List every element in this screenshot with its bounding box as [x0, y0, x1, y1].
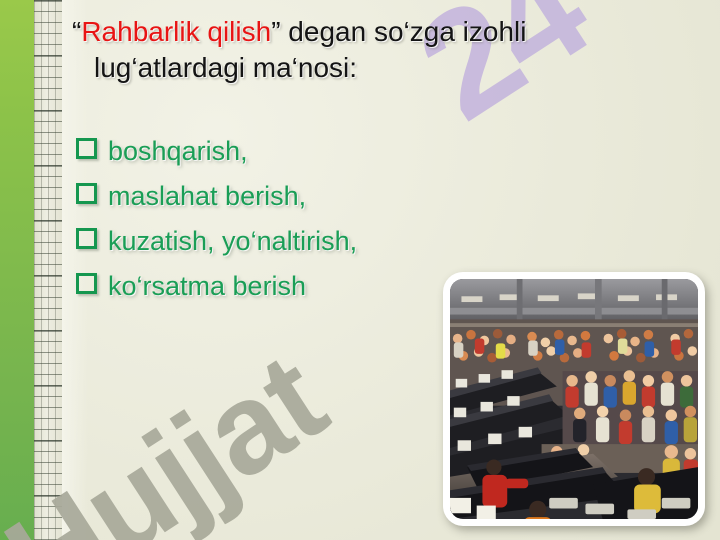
left-green-band	[0, 0, 34, 540]
list-item: maslahat berish,	[76, 183, 546, 210]
title-line2: lug‘atlardagi ma‘nosi:	[72, 50, 652, 86]
square-bullet-icon	[76, 273, 97, 294]
square-bullet-icon	[76, 228, 97, 249]
title-line1-rest: degan so‘zga izohli	[281, 16, 527, 47]
list-item: boshqarish,	[76, 138, 546, 165]
title-quote-open: “	[72, 16, 81, 47]
list-item: kuzatish, yo‘naltirish,	[76, 228, 546, 255]
slide: 24 Hujjat “Rahbarlik qilish” degan so‘zg…	[0, 0, 720, 540]
square-bullet-icon	[76, 138, 97, 159]
title-highlight: Rahbarlik qilish	[81, 16, 271, 47]
list-item-label: boshqarish,	[108, 138, 248, 165]
slide-title: “Rahbarlik qilish” degan so‘zga izohli l…	[72, 14, 652, 87]
title-quote-close: ”	[271, 16, 280, 47]
list-item-label: maslahat berish,	[108, 183, 306, 210]
list-item-label: kuzatish, yo‘naltirish,	[108, 228, 357, 255]
photo-frame	[443, 272, 705, 526]
square-bullet-icon	[76, 183, 97, 204]
trading-floor-photo	[450, 279, 698, 519]
list-item-label: ko‘rsatma berish	[108, 273, 306, 300]
left-grid-strip	[34, 0, 62, 540]
